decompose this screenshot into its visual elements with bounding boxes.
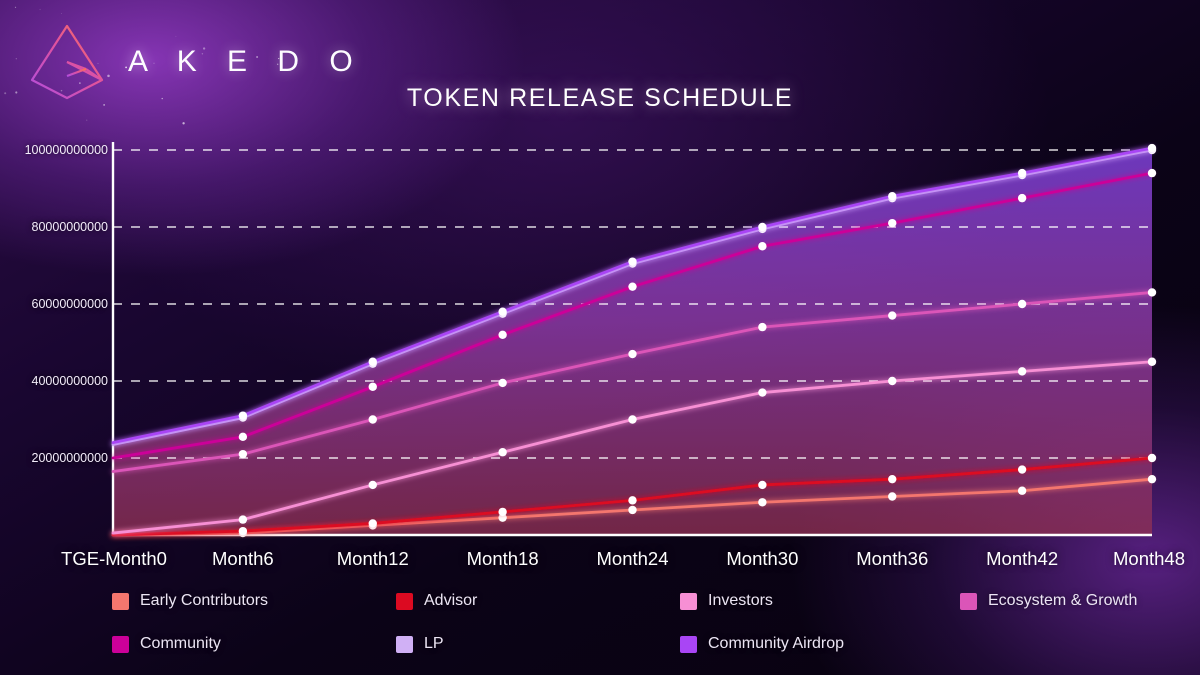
legend-item[interactable]: Advisor bbox=[396, 592, 477, 610]
data-point bbox=[498, 379, 506, 387]
data-point bbox=[369, 481, 377, 489]
data-point bbox=[628, 496, 636, 504]
legend-item-label: Advisor bbox=[424, 592, 477, 610]
y-axis-tick: 40000000000 bbox=[32, 374, 108, 388]
y-axis-tick: 80000000000 bbox=[32, 220, 108, 234]
data-point bbox=[1018, 300, 1026, 308]
legend-color-swatch-icon bbox=[396, 593, 413, 610]
legend-item-label: LP bbox=[424, 635, 444, 653]
legend-color-swatch-icon bbox=[960, 593, 977, 610]
legend-item[interactable]: LP bbox=[396, 635, 444, 653]
legend-item-label: Community bbox=[140, 635, 221, 653]
y-axis-tick: 20000000000 bbox=[32, 451, 108, 465]
data-point bbox=[888, 377, 896, 385]
data-point bbox=[1148, 144, 1156, 152]
x-axis-tick: Month24 bbox=[597, 548, 669, 570]
data-point bbox=[758, 481, 766, 489]
data-point bbox=[628, 415, 636, 423]
legend-color-swatch-icon bbox=[396, 636, 413, 653]
legend-color-swatch-icon bbox=[680, 593, 697, 610]
data-point bbox=[888, 475, 896, 483]
data-point bbox=[758, 242, 766, 250]
data-point bbox=[369, 415, 377, 423]
data-point bbox=[1148, 358, 1156, 366]
legend-color-swatch-icon bbox=[112, 636, 129, 653]
data-point bbox=[239, 527, 247, 535]
data-point bbox=[628, 350, 636, 358]
x-axis-tick: Month42 bbox=[986, 548, 1058, 570]
legend-item[interactable]: Investors bbox=[680, 592, 773, 610]
data-point bbox=[628, 282, 636, 290]
data-point bbox=[888, 219, 896, 227]
data-point bbox=[239, 433, 247, 441]
data-point bbox=[1018, 487, 1026, 495]
legend-item[interactable]: Community bbox=[112, 635, 221, 653]
data-point bbox=[1148, 288, 1156, 296]
y-axis-tick: 60000000000 bbox=[32, 297, 108, 311]
data-point bbox=[628, 506, 636, 514]
x-axis-tick: Month48 bbox=[1113, 548, 1185, 570]
x-axis-tick: TGE-Month0 bbox=[61, 548, 167, 570]
x-axis-tick: Month6 bbox=[212, 548, 274, 570]
data-point bbox=[1148, 169, 1156, 177]
data-point bbox=[758, 223, 766, 231]
data-point bbox=[498, 448, 506, 456]
legend-color-swatch-icon bbox=[680, 636, 697, 653]
data-point bbox=[239, 515, 247, 523]
data-point bbox=[239, 450, 247, 458]
data-point bbox=[369, 519, 377, 527]
data-point bbox=[1148, 475, 1156, 483]
data-point bbox=[498, 508, 506, 516]
legend-item[interactable]: Ecosystem & Growth bbox=[960, 592, 1137, 610]
x-axis-tick: Month36 bbox=[856, 548, 928, 570]
legend-item[interactable]: Early Contributors bbox=[112, 592, 268, 610]
legend-item-label: Community Airdrop bbox=[708, 635, 844, 653]
data-point bbox=[888, 492, 896, 500]
data-point bbox=[758, 388, 766, 396]
legend-item-label: Investors bbox=[708, 592, 773, 610]
data-point bbox=[628, 257, 636, 265]
legend-item-label: Ecosystem & Growth bbox=[988, 592, 1137, 610]
legend-item-label: Early Contributors bbox=[140, 592, 268, 610]
data-point bbox=[888, 192, 896, 200]
data-point bbox=[239, 411, 247, 419]
x-axis-tick-labels: TGE-Month0Month6Month12Month18Month24Mon… bbox=[0, 548, 1200, 582]
x-axis-tick: Month12 bbox=[337, 548, 409, 570]
x-axis-tick: Month18 bbox=[467, 548, 539, 570]
data-point bbox=[758, 498, 766, 506]
data-point bbox=[498, 331, 506, 339]
chart-legend: Early ContributorsAdvisorInvestorsEcosys… bbox=[0, 588, 1200, 668]
data-point bbox=[758, 323, 766, 331]
legend-item[interactable]: Community Airdrop bbox=[680, 635, 844, 653]
x-axis-tick: Month30 bbox=[726, 548, 798, 570]
data-point bbox=[1018, 169, 1026, 177]
data-point bbox=[1148, 454, 1156, 462]
data-point bbox=[369, 383, 377, 391]
data-point bbox=[369, 358, 377, 366]
data-point bbox=[1018, 367, 1026, 375]
data-point bbox=[1018, 465, 1026, 473]
data-point bbox=[498, 308, 506, 316]
data-point bbox=[1018, 194, 1026, 202]
legend-color-swatch-icon bbox=[112, 593, 129, 610]
y-axis-tick: 100000000000 bbox=[25, 143, 108, 157]
data-point bbox=[888, 311, 896, 319]
chart-area-fill bbox=[113, 148, 1152, 535]
